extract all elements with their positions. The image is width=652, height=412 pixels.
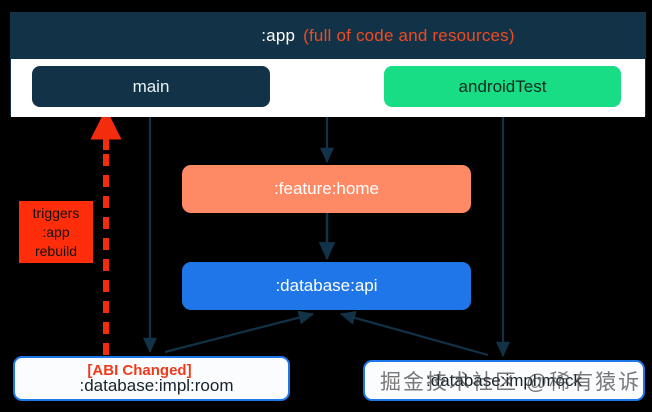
rebuild-trigger-line-1: triggers (33, 204, 80, 223)
app-module-body: main androidTest (11, 59, 645, 117)
source-set-androidtest-label: androidTest (459, 77, 547, 97)
module-node-database-api-label: :database:api (275, 276, 377, 296)
module-node-database-api[interactable]: :database:api (182, 262, 471, 310)
module-node-database-impl-mock[interactable]: :database:impl:mock (363, 360, 645, 401)
app-module-title: :app (261, 26, 295, 46)
module-node-feature-home-label: :feature:home (274, 179, 379, 199)
module-node-feature-home[interactable]: :feature:home (182, 165, 471, 213)
edge-impl-mock-to-database-api (341, 314, 488, 355)
app-module-note: (full of code and resources) (303, 26, 515, 46)
rebuild-trigger-line-3: rebuild (35, 242, 77, 261)
module-node-database-impl-room-label: :database:impl:room (79, 376, 233, 396)
source-set-androidtest[interactable]: androidTest (384, 66, 621, 107)
rebuild-trigger-annotation: triggers :app rebuild (19, 201, 93, 263)
source-set-main-label: main (133, 77, 170, 97)
app-module-header: :app (full of code and resources) (11, 13, 645, 59)
diagram-canvas: :app (full of code and resources) main a… (0, 0, 652, 412)
edge-impl-room-to-database-api (165, 314, 313, 352)
app-module-container: :app (full of code and resources) main a… (10, 12, 646, 116)
module-node-database-impl-mock-label: :database:impl:mock (426, 371, 582, 391)
source-set-main[interactable]: main (32, 66, 270, 107)
rebuild-trigger-line-2: :app (42, 223, 69, 242)
module-node-database-impl-room[interactable]: [ABI Changed] :database:impl:room (13, 356, 290, 401)
